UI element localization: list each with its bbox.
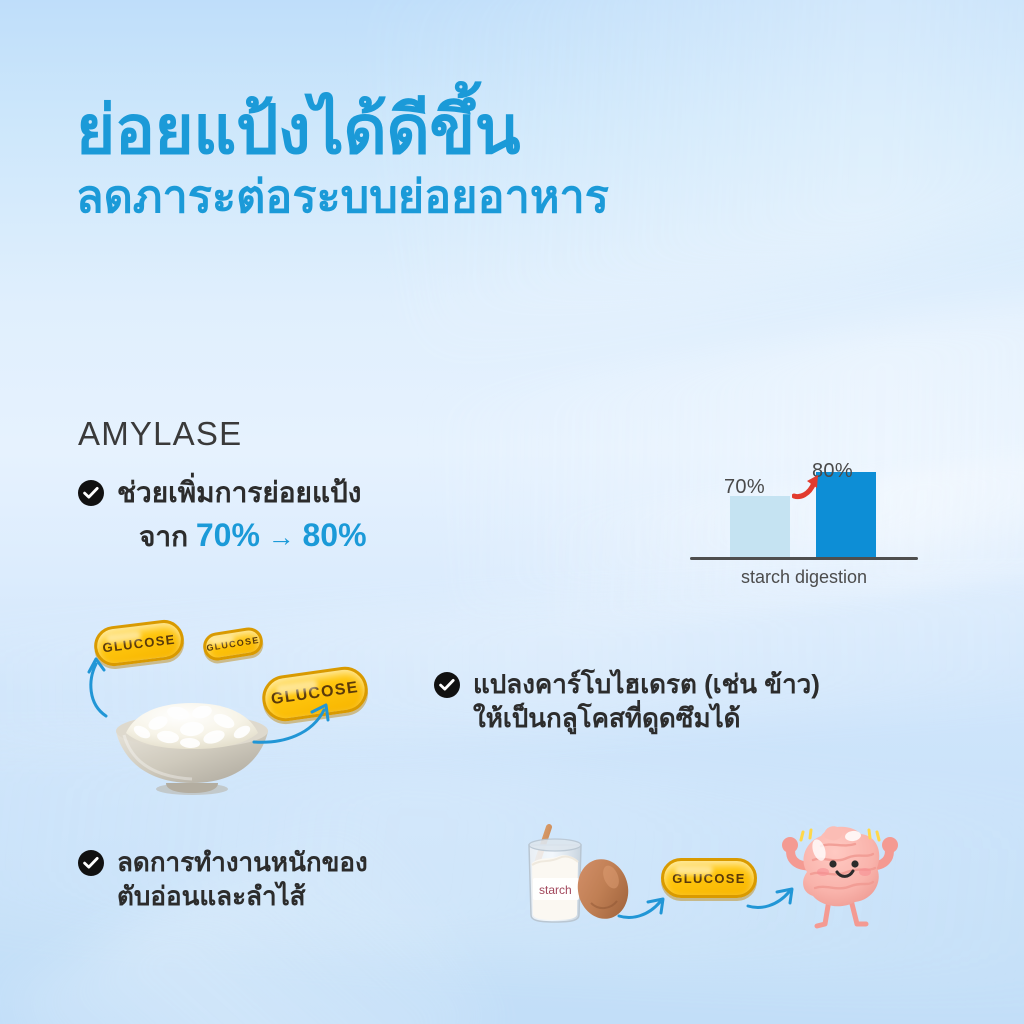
benefit-bullet-1: ช่วยเพิ่มการย่อยแป้ง จาก 70% → 80% [78, 475, 508, 556]
headline-primary: ย่อยแป้งได้ดีขึ้น [76, 96, 796, 166]
bullet-3-line-2: ตับอ่อนและลำไส้ [117, 881, 306, 911]
check-circle-icon [434, 672, 460, 698]
starch-digestion-bar-chart: 70% 80% starch digestion [688, 438, 920, 588]
headline-group: ย่อยแป้งได้ดีขึ้น ลดภาระต่อระบบย่อยอาหาร [76, 96, 796, 222]
glucose-pill: GLUCOSE [92, 618, 186, 669]
infographic-poster: ย่อยแป้งได้ดีขึ้น ลดภาระต่อระบบย่อยอาหาร… [0, 0, 1024, 1024]
starch-jar-label: starch [539, 883, 572, 897]
glucose-pill: GLUCOSE [259, 664, 370, 724]
starch-jar-illustration: starch [519, 823, 639, 932]
benefit-bullet-3: ลดการทำงานหนักของ ตับอ่อนและลำไส้ [78, 845, 478, 914]
check-circle-icon [78, 480, 104, 506]
benefit-bullet-2: แปลงคาร์โบไฮเดรต (เช่น ข้าว) ให้เป็นกลูโ… [434, 667, 934, 736]
rice-bowl-illustration [104, 685, 280, 802]
bullet-2-line-2: ให้เป็นกลูโคสที่ดูดซึมได้ [473, 703, 741, 733]
benefit-bullet-2-text: แปลงคาร์โบไฮเดรต (เช่น ข้าว) ให้เป็นกลูโ… [473, 667, 820, 736]
starch-digestion-to-value: 80% [302, 517, 366, 553]
glucose-pill: GLUCOSE [661, 858, 757, 898]
bullet-1-prefix: จาก [139, 521, 188, 552]
starch-digestion-from-value: 70% [196, 517, 260, 553]
chart-x-axis-label: starch digestion [688, 567, 920, 588]
value-arrow-glyph: → [268, 522, 295, 552]
bullet-1-line-1: ช่วยเพิ่มการย่อยแป้ง [117, 477, 361, 508]
background-streak [0, 561, 1024, 769]
intestine-character-illustration [773, 814, 903, 937]
benefit-bullet-1-text: ช่วยเพิ่มการย่อยแป้ง จาก 70% → 80% [117, 475, 367, 556]
bar-label-70: 70% [724, 476, 765, 499]
arrow-starch-to-glucose-icon [616, 896, 672, 927]
chart-plot-area: 70% 80% [688, 466, 920, 558]
chart-axis-line [690, 557, 918, 560]
amylase-section: AMYLASE ช่วยเพิ่มการย่อยแป้ง จาก 70% → 8… [78, 415, 508, 556]
benefit-bullet-3-text: ลดการทำงานหนักของ ตับอ่อนและลำไส้ [117, 845, 368, 914]
amylase-title: AMYLASE [78, 415, 508, 453]
bullet-3-line-1: ลดการทำงานหนักของ [117, 847, 368, 877]
bar-before-70 [730, 496, 790, 558]
glucose-pill: GLUCOSE [201, 625, 265, 662]
increase-arrow-icon [792, 471, 826, 506]
headline-secondary: ลดภาระต่อระบบย่อยอาหาร [76, 172, 796, 222]
bullet-2-line-1: แปลงคาร์โบไฮเดรต (เช่น ข้าว) [473, 669, 820, 699]
check-circle-icon [78, 850, 104, 876]
arrow-glucose-to-gut-icon [745, 886, 801, 917]
